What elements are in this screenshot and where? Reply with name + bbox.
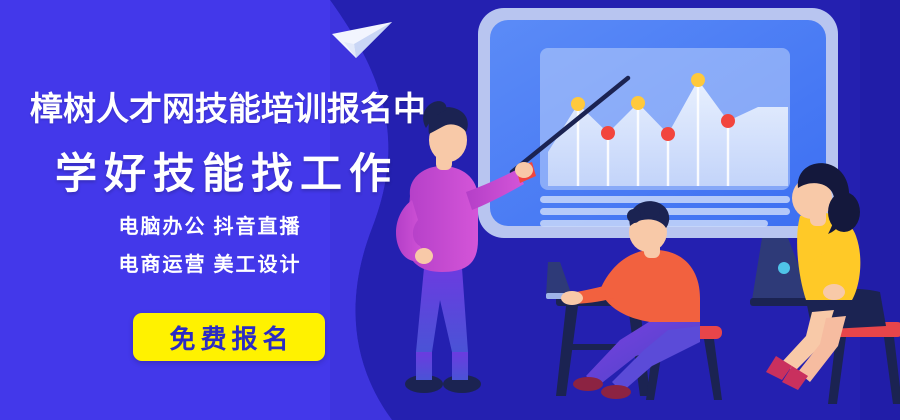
chart-point-peak [631,96,645,110]
page-title: 樟树人才网技能培训报名中 [30,82,450,130]
headline-secondary: 学好技能找工作 [55,140,455,201]
free-signup-button[interactable]: 免费报名 [133,313,325,361]
free-signup-button-label: 免费报名 [164,319,293,356]
chart-point-valley [661,127,675,141]
course-list-line-1: 电脑办公 抖音直播 [0,210,420,239]
course-list-line-2: 电商运营 美工设计 [0,248,420,277]
chart-point-valley [601,126,615,140]
laptop-male [546,262,572,296]
copy-block: 樟树人才网技能培训报名中 学好技能找工作 电脑办公 抖音直播 电商运营 美工设计… [0,0,470,420]
chart-point-peak [691,73,705,87]
paper-plane-icon [330,18,396,71]
chart-point-valley [721,114,735,128]
promo-banner: 樟树人才网技能培训报名中 学好技能找工作 电脑办公 抖音直播 电商运营 美工设计… [0,0,900,420]
chart-point-peak [571,97,585,111]
